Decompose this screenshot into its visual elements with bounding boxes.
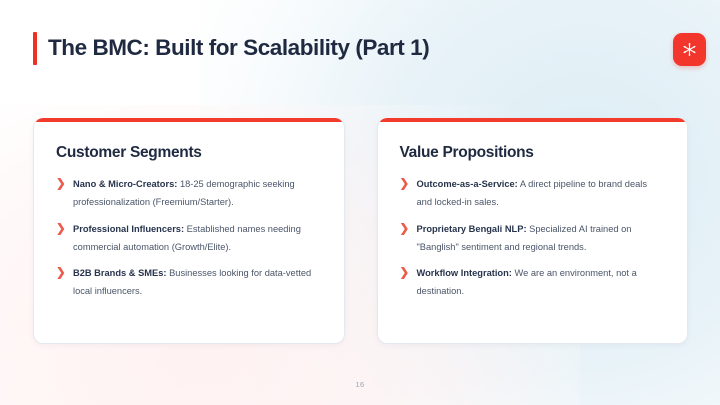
list-item-text: Proprietary Bengali NLP: Specialized AI … bbox=[412, 221, 664, 257]
chevron-right-icon: ❯ bbox=[400, 221, 412, 239]
page-title: The BMC: Built for Scalability (Part 1) bbox=[48, 37, 429, 60]
list-item: ❯ Nano & Micro-Creators: 18-25 demograph… bbox=[56, 176, 320, 212]
list-item-label: Nano & Micro-Creators: bbox=[73, 179, 177, 189]
slide-canvas: The BMC: Built for Scalability (Part 1) … bbox=[0, 0, 720, 405]
list-item: ❯ Proprietary Bengali NLP: Specialized A… bbox=[400, 221, 664, 257]
list-item: ❯ Workflow Integration: We are an enviro… bbox=[400, 265, 664, 301]
brand-logo bbox=[673, 33, 706, 66]
list-item-text: Outcome-as-a-Service: A direct pipeline … bbox=[412, 176, 664, 212]
title-accent-bar bbox=[33, 32, 37, 65]
card-title: Value Propositions bbox=[400, 144, 664, 161]
bullet-list: ❯ Outcome-as-a-Service: A direct pipelin… bbox=[400, 176, 664, 301]
list-item: ❯ Outcome-as-a-Service: A direct pipelin… bbox=[400, 176, 664, 212]
chevron-right-icon: ❯ bbox=[400, 265, 412, 283]
chevron-right-icon: ❯ bbox=[56, 176, 68, 194]
list-item: ❯ Professional Influencers: Established … bbox=[56, 221, 320, 257]
card-value-propositions: Value Propositions ❯ Outcome-as-a-Servic… bbox=[377, 118, 689, 344]
snowflake-icon bbox=[681, 41, 698, 58]
list-item-label: Professional Influencers: bbox=[73, 224, 184, 234]
list-item-text: B2B Brands & SMEs: Businesses looking fo… bbox=[68, 265, 320, 301]
bullet-list: ❯ Nano & Micro-Creators: 18-25 demograph… bbox=[56, 176, 320, 301]
list-item-label: Outcome-as-a-Service: bbox=[417, 179, 518, 189]
card-customer-segments: Customer Segments ❯ Nano & Micro-Creator… bbox=[33, 118, 345, 344]
card-title: Customer Segments bbox=[56, 144, 320, 161]
chevron-right-icon: ❯ bbox=[56, 265, 68, 283]
list-item-label: B2B Brands & SMEs: bbox=[73, 268, 167, 278]
chevron-right-icon: ❯ bbox=[400, 176, 412, 194]
list-item: ❯ B2B Brands & SMEs: Businesses looking … bbox=[56, 265, 320, 301]
list-item-text: Professional Influencers: Established na… bbox=[68, 221, 320, 257]
list-item-label: Workflow Integration: bbox=[417, 268, 512, 278]
card-accent-top bbox=[378, 118, 688, 122]
slide-header: The BMC: Built for Scalability (Part 1) bbox=[33, 29, 687, 67]
list-item-text: Workflow Integration: We are an environm… bbox=[412, 265, 664, 301]
chevron-right-icon: ❯ bbox=[56, 221, 68, 239]
card-container: Customer Segments ❯ Nano & Micro-Creator… bbox=[33, 118, 688, 344]
list-item-label: Proprietary Bengali NLP: bbox=[417, 224, 527, 234]
page-number: 16 bbox=[0, 380, 720, 389]
list-item-text: Nano & Micro-Creators: 18-25 demographic… bbox=[68, 176, 320, 212]
card-accent-top bbox=[34, 118, 344, 122]
